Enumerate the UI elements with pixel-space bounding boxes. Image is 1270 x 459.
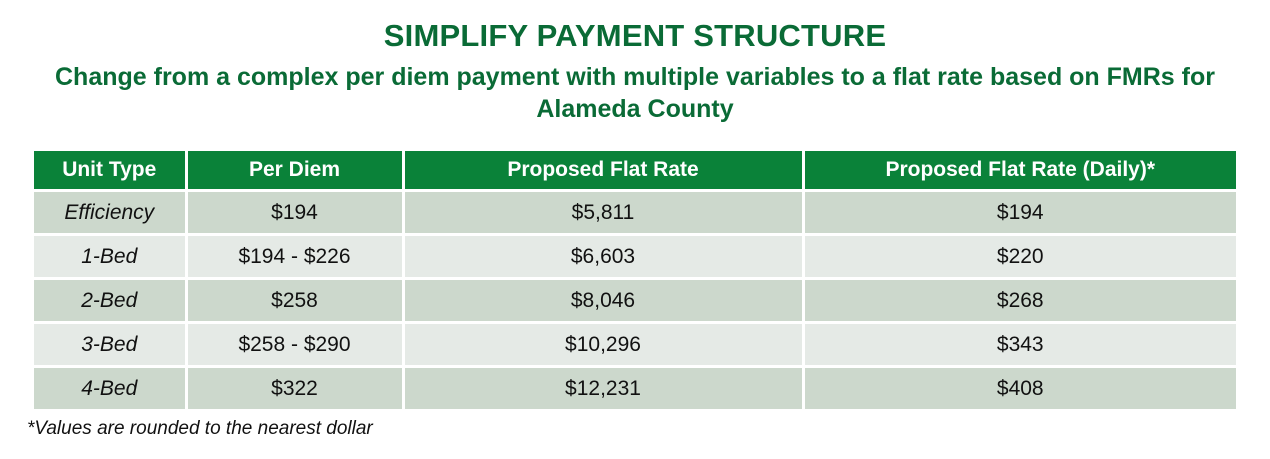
cell-per-diem: $322 <box>186 367 403 410</box>
cell-unit-type: 4-Bed <box>34 367 186 410</box>
cell-unit-type: 1-Bed <box>34 235 186 279</box>
column-header-proposed-flat-rate: Proposed Flat Rate <box>403 151 803 191</box>
page-title: SIMPLIFY PAYMENT STRUCTURE <box>0 18 1270 55</box>
table-row: 2-Bed $258 $8,046 $268 <box>34 279 1236 323</box>
cell-proposed-flat-rate: $8,046 <box>403 279 803 323</box>
table-header-row: Unit Type Per Diem Proposed Flat Rate Pr… <box>34 151 1236 191</box>
slide-canvas: SIMPLIFY PAYMENT STRUCTURE Change from a… <box>0 0 1270 459</box>
footnote-text: *Values are rounded to the nearest dolla… <box>27 418 373 440</box>
column-header-proposed-flat-rate-daily: Proposed Flat Rate (Daily)* <box>803 151 1236 191</box>
table-row: 3-Bed $258 - $290 $10,296 $343 <box>34 323 1236 367</box>
cell-proposed-flat-rate: $5,811 <box>403 191 803 235</box>
cell-proposed-flat-rate-daily: $343 <box>803 323 1236 367</box>
cell-proposed-flat-rate-daily: $194 <box>803 191 1236 235</box>
cell-unit-type: 2-Bed <box>34 279 186 323</box>
cell-proposed-flat-rate: $10,296 <box>403 323 803 367</box>
cell-per-diem: $258 - $290 <box>186 323 403 367</box>
table-row: 1-Bed $194 - $226 $6,603 $220 <box>34 235 1236 279</box>
rate-table-container: Unit Type Per Diem Proposed Flat Rate Pr… <box>34 151 1236 409</box>
cell-proposed-flat-rate: $12,231 <box>403 367 803 410</box>
payment-rate-table: Unit Type Per Diem Proposed Flat Rate Pr… <box>34 151 1236 409</box>
column-header-per-diem: Per Diem <box>186 151 403 191</box>
cell-unit-type: 3-Bed <box>34 323 186 367</box>
page-subtitle: Change from a complex per diem payment w… <box>50 61 1220 125</box>
cell-per-diem: $258 <box>186 279 403 323</box>
column-header-unit-type: Unit Type <box>34 151 186 191</box>
table-row: Efficiency $194 $5,811 $194 <box>34 191 1236 235</box>
cell-proposed-flat-rate-daily: $268 <box>803 279 1236 323</box>
cell-per-diem: $194 <box>186 191 403 235</box>
title-block: SIMPLIFY PAYMENT STRUCTURE Change from a… <box>0 18 1270 125</box>
table-header: Unit Type Per Diem Proposed Flat Rate Pr… <box>34 151 1236 191</box>
cell-unit-type: Efficiency <box>34 191 186 235</box>
cell-proposed-flat-rate: $6,603 <box>403 235 803 279</box>
cell-proposed-flat-rate-daily: $220 <box>803 235 1236 279</box>
cell-per-diem: $194 - $226 <box>186 235 403 279</box>
table-body: Efficiency $194 $5,811 $194 1-Bed $194 -… <box>34 191 1236 410</box>
table-row: 4-Bed $322 $12,231 $408 <box>34 367 1236 410</box>
cell-proposed-flat-rate-daily: $408 <box>803 367 1236 410</box>
